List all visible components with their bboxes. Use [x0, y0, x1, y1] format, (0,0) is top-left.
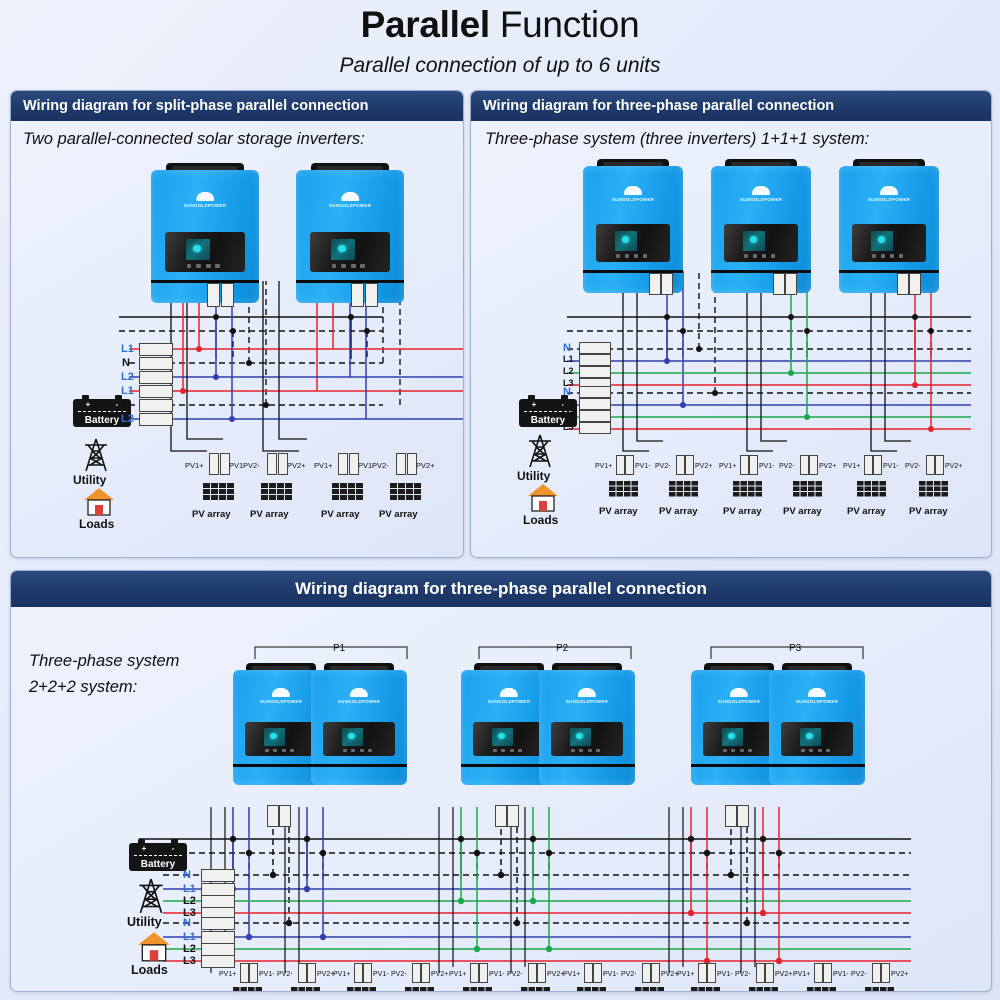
- brand-label: SUNGOLDPOWER: [739, 197, 783, 202]
- lcd-screen: [331, 239, 355, 260]
- battery-terminal-pos: [528, 395, 535, 399]
- breaker-block: [909, 273, 921, 295]
- lcd-screen: [186, 239, 210, 260]
- button-4[interactable]: [899, 254, 903, 258]
- button-3[interactable]: [510, 749, 514, 752]
- house-icon: [137, 931, 171, 963]
- pv-terminal-left: PV1+: [314, 461, 333, 470]
- inverter-display: [473, 722, 544, 756]
- inverter-seam: [539, 764, 635, 767]
- loads-terminal-n: N: [563, 386, 571, 398]
- utility-terminal-n: N: [183, 869, 191, 881]
- panel-three-phase-111-caption: Three-phase system (three inverters) 1+1…: [485, 129, 869, 150]
- pv-terminal-right: PV2+: [819, 463, 836, 470]
- pv-breaker: [338, 453, 348, 475]
- panel-split-phase-body: Two parallel-connected solar storage inv…: [11, 121, 463, 558]
- pv-terminal-right: PV1-: [603, 971, 619, 978]
- pv-breaker: [584, 963, 593, 983]
- pv-breaker: [642, 963, 651, 983]
- inverter-3: SUNGOLDPOWER: [839, 159, 939, 293]
- control-buttons: [265, 749, 295, 752]
- pv-array-label: PV array: [723, 506, 762, 517]
- breaker-block: [507, 805, 519, 827]
- inverter-2: SUNGOLDPOWER: [296, 163, 404, 303]
- terminal-block: [579, 354, 611, 366]
- pv-breaker: [809, 455, 818, 475]
- pv-array-icon: [463, 987, 493, 992]
- button-2[interactable]: [731, 749, 735, 752]
- pv-breaker: [349, 453, 359, 475]
- pv-array-label: PV array: [783, 506, 822, 517]
- pv-breaker: [707, 963, 716, 983]
- inverter-logo: SUNGOLDPOWER: [796, 688, 838, 704]
- button-4[interactable]: [748, 749, 752, 752]
- brand-label: SUNGOLDPOWER: [566, 699, 608, 704]
- breaker-block: [207, 283, 220, 307]
- sun-logo-icon: [341, 192, 359, 201]
- battery-label: Battery: [141, 859, 175, 871]
- pv-array-icon: [733, 481, 763, 503]
- breaker-block: [897, 273, 909, 295]
- button-2[interactable]: [809, 749, 813, 752]
- pv-array-icon: [521, 987, 551, 992]
- pv-breaker: [363, 963, 372, 983]
- breaker-block: [661, 273, 673, 295]
- diagram-page: Parallel Function Parallel connection of…: [0, 0, 1000, 1000]
- button-2[interactable]: [625, 254, 629, 258]
- button-3[interactable]: [360, 749, 364, 752]
- terminal-block: [139, 371, 173, 384]
- utility-tower-icon: [79, 437, 113, 473]
- inverter-display: [310, 232, 390, 272]
- inverter-seam: [769, 764, 865, 767]
- terminal-block: [579, 398, 611, 410]
- pv-terminal-left: PV2-: [655, 463, 671, 470]
- pv-breaker: [814, 963, 823, 983]
- pv-terminal-left: PV1+: [793, 971, 810, 978]
- utility-label: Utility: [73, 473, 106, 487]
- battery-minus: -: [116, 401, 119, 409]
- pv-terminal-right: PV2+: [661, 971, 678, 978]
- battery-terminal-pos: [138, 839, 145, 843]
- button-3[interactable]: [634, 254, 638, 258]
- pv-array-icon: [390, 483, 422, 507]
- inverter-logo: SUNGOLDPOWER: [338, 688, 380, 704]
- panel-split-phase-header: Wiring diagram for split-phase parallel …: [11, 91, 463, 121]
- pv-terminal-left: PV2-: [905, 463, 921, 470]
- pv-terminal-right: PV2+: [891, 971, 908, 978]
- pv-terminal-right: PV1-: [259, 971, 275, 978]
- button-2[interactable]: [341, 264, 346, 268]
- pv-array-icon: [857, 481, 887, 503]
- inverter-body: SUNGOLDPOWER: [296, 170, 404, 303]
- button-3[interactable]: [740, 749, 744, 752]
- button-1[interactable]: [872, 254, 876, 258]
- pv-terminal-left: PV1+: [719, 463, 736, 470]
- pv-array-icon: [261, 483, 293, 507]
- button-1[interactable]: [801, 749, 805, 752]
- breaker-block: [737, 805, 749, 827]
- pv-breaker: [267, 453, 277, 475]
- breaker-block: [365, 283, 378, 307]
- pv-array-icon: [609, 481, 639, 503]
- loads-terminal-l3: L3: [183, 955, 196, 967]
- loads-terminal-l2: L2: [563, 410, 574, 420]
- terminal-block: [579, 386, 611, 398]
- pv-array-label: PV array: [379, 509, 418, 520]
- pv-terminal-right: PV1-: [717, 971, 733, 978]
- panel-three-phase-222-caption-l2: 2+2+2 system:: [29, 677, 137, 698]
- inverter-body: SUNGOLDPOWER: [769, 670, 865, 785]
- terminal-block: [139, 413, 173, 426]
- utility-terminal-l2: L2: [563, 366, 574, 376]
- pv-terminal-right: PV1-: [883, 463, 899, 470]
- inverter-logo: SUNGOLDPOWER: [566, 688, 608, 704]
- inverter-logo: SUNGOLDPOWER: [326, 192, 374, 208]
- sun-logo-icon: [880, 186, 898, 195]
- lcd-screen: [492, 728, 513, 746]
- button-2[interactable]: [351, 749, 355, 752]
- pv-terminal-left: PV1+: [449, 971, 466, 978]
- button-4[interactable]: [643, 254, 647, 258]
- title-bold: Parallel: [361, 4, 490, 45]
- panel-three-phase-222: Wiring diagram for three-phase parallel …: [10, 570, 992, 992]
- breaker-block: [649, 273, 661, 295]
- inverter-logo: SUNGOLDPOWER: [718, 688, 760, 704]
- utility-terminal-l1: L1: [563, 354, 574, 364]
- button-1[interactable]: [187, 264, 192, 268]
- inverter-seam: [151, 280, 259, 283]
- inverter-display: [165, 232, 245, 272]
- utility-terminal-l2: L2: [121, 371, 134, 383]
- brand-label: SUNGOLDPOWER: [488, 699, 530, 704]
- brand-label: SUNGOLDPOWER: [718, 699, 760, 704]
- page-subtitle: Parallel connection of up to 6 units: [0, 54, 1000, 78]
- inverter-display: [781, 722, 852, 756]
- pv-terminal-right: PV1-: [373, 971, 389, 978]
- sun-logo-icon: [808, 688, 826, 697]
- pv-breaker: [307, 963, 316, 983]
- pv-array-icon: [635, 987, 665, 992]
- panel-three-phase-111-header: Wiring diagram for three-phase parallel …: [471, 91, 991, 121]
- pv-array-icon: [233, 987, 263, 992]
- pv-terminal-right: PV1-: [489, 971, 505, 978]
- pv-terminal-right: PV2+: [317, 971, 334, 978]
- pv-breaker: [209, 453, 219, 475]
- pv-terminal-right: PV2+: [287, 461, 306, 470]
- pv-array-label: PV array: [192, 509, 231, 520]
- utility-label: Utility: [127, 915, 162, 929]
- button-3[interactable]: [890, 254, 894, 258]
- pv-terminal-left: PV1+: [333, 971, 350, 978]
- lcd-screen: [570, 728, 591, 746]
- loads-label: Loads: [79, 517, 114, 531]
- loads-terminal-n: N: [122, 399, 130, 411]
- sun-logo-icon: [500, 688, 518, 697]
- pv-terminal-right: PV2+: [775, 971, 792, 978]
- pv-breaker: [278, 453, 288, 475]
- inverter-display: [245, 722, 316, 756]
- button-2[interactable]: [881, 254, 885, 258]
- house-icon: [83, 487, 115, 517]
- control-buttons: [343, 749, 373, 752]
- button-4[interactable]: [596, 749, 600, 752]
- pv-breaker: [749, 455, 758, 475]
- pv-terminal-right: PV2+: [547, 971, 564, 978]
- inverter-body: SUNGOLDPOWER: [151, 170, 259, 303]
- lcd-screen: [871, 231, 893, 251]
- pv-terminal-left: PV1+: [595, 463, 612, 470]
- terminal-block: [139, 343, 173, 356]
- loads-terminal-n: N: [183, 917, 191, 929]
- control-buttons: [723, 749, 753, 752]
- button-2[interactable]: [501, 749, 505, 752]
- control-buttons: [571, 749, 601, 752]
- control-buttons: [187, 264, 221, 268]
- brand-label: SUNGOLDPOWER: [260, 699, 302, 704]
- button-3[interactable]: [206, 264, 211, 268]
- battery-terminal-pos: [82, 395, 89, 399]
- pv-breaker: [676, 455, 685, 475]
- pv-breaker: [926, 455, 935, 475]
- breaker-block: [785, 273, 797, 295]
- button-3[interactable]: [818, 749, 822, 752]
- brand-label: SUNGOLDPOWER: [867, 197, 911, 202]
- button-4[interactable]: [518, 749, 522, 752]
- pv-breaker: [935, 455, 944, 475]
- button-3[interactable]: [762, 254, 766, 258]
- utility-label: Utility: [517, 469, 550, 483]
- pv-breaker: [651, 963, 660, 983]
- button-2[interactable]: [579, 749, 583, 752]
- pv-terminal-right: PV2+: [431, 971, 448, 978]
- pv-array-icon: [749, 987, 779, 992]
- pv-array-label: PV array: [659, 506, 698, 517]
- lcd-screen: [800, 728, 821, 746]
- loads-terminal-l1: L1: [183, 931, 196, 943]
- pv-terminal-left: PV2-: [277, 971, 293, 978]
- title-rest: Function: [490, 4, 640, 45]
- breaker-block: [725, 805, 737, 827]
- sun-logo-icon: [730, 688, 748, 697]
- pv-breaker: [220, 453, 230, 475]
- inverter-logo: SUNGOLDPOWER: [488, 688, 530, 704]
- page-title: Parallel Function: [0, 6, 1000, 45]
- inverter-logo: SUNGOLDPOWER: [867, 186, 911, 202]
- loads-label: Loads: [523, 513, 558, 527]
- pv-breaker: [616, 455, 625, 475]
- sun-logo-icon: [578, 688, 596, 697]
- pv-breaker: [593, 963, 602, 983]
- sun-logo-icon: [350, 688, 368, 697]
- brand-label: SUNGOLDPOWER: [326, 203, 374, 208]
- breaker-block: [279, 805, 291, 827]
- battery-label: Battery: [85, 415, 119, 427]
- utility-terminal-l1: L1: [183, 883, 196, 895]
- panel-three-phase-222-body: Three-phase system 2+2+2 system: P1 P2 P…: [11, 607, 991, 992]
- terminal-block: [201, 869, 235, 882]
- battery-terminal-neg: [171, 839, 178, 843]
- button-1[interactable]: [343, 749, 347, 752]
- panel-three-phase-111-body: Three-phase system (three inverters) 1+1…: [471, 121, 991, 558]
- battery-plus: +: [142, 845, 147, 853]
- panel-three-phase-222-caption-l1: Three-phase system: [29, 651, 179, 672]
- pv-breaker: [528, 963, 537, 983]
- terminal-block: [139, 357, 173, 370]
- inverter-6: SUNGOLDPOWER: [769, 663, 865, 785]
- loads-terminal-l2: L2: [183, 943, 196, 955]
- pv-breaker: [765, 963, 774, 983]
- pv-terminal-left: PV2-: [391, 971, 407, 978]
- button-3[interactable]: [282, 749, 286, 752]
- terminal-block: [579, 410, 611, 422]
- button-1[interactable]: [744, 254, 748, 258]
- inverter-body: SUNGOLDPOWER: [839, 166, 939, 293]
- pv-breaker: [800, 455, 809, 475]
- group-label-p2: P2: [556, 643, 568, 654]
- button-1[interactable]: [265, 749, 269, 752]
- pv-array-icon: [405, 987, 435, 992]
- pv-array-icon: [577, 987, 607, 992]
- loads-terminal-l1: L1: [121, 385, 134, 397]
- button-3[interactable]: [351, 264, 356, 268]
- button-1[interactable]: [493, 749, 497, 752]
- pv-breaker: [823, 963, 832, 983]
- battery-divider: [134, 855, 183, 856]
- inverter-display: [323, 722, 394, 756]
- button-3[interactable]: [588, 749, 592, 752]
- pv-terminal-left: PV1+: [677, 971, 694, 978]
- button-1[interactable]: [332, 264, 337, 268]
- pv-terminal-left: PV1+: [185, 461, 204, 470]
- control-buttons: [872, 254, 903, 258]
- loads-terminal-l2: L2: [121, 413, 134, 425]
- pv-terminal-left: PV2-: [507, 971, 523, 978]
- inverter-logo: SUNGOLDPOWER: [181, 192, 229, 208]
- panel-split-phase: Wiring diagram for split-phase parallel …: [10, 90, 464, 558]
- pv-breaker: [864, 455, 873, 475]
- lcd-screen: [615, 231, 637, 251]
- pv-array-icon: [203, 483, 235, 507]
- terminal-block: [139, 399, 173, 412]
- terminal-block: [201, 917, 235, 930]
- pv-array-icon: [669, 481, 699, 503]
- inverter-body: SUNGOLDPOWER: [311, 670, 407, 785]
- pv-breaker: [240, 963, 249, 983]
- inverter-body: SUNGOLDPOWER: [539, 670, 635, 785]
- button-1[interactable]: [571, 749, 575, 752]
- pv-breaker: [625, 455, 634, 475]
- utility-terminal-n: N: [563, 342, 571, 354]
- inverter-seam: [839, 270, 939, 273]
- button-2[interactable]: [196, 264, 201, 268]
- breaker-block: [773, 273, 785, 295]
- pv-terminal-left: PV1+: [563, 971, 580, 978]
- pv-terminal-left: PV1+: [219, 971, 236, 978]
- group-label-p1: P1: [333, 643, 345, 654]
- pv-breaker: [756, 963, 765, 983]
- button-4[interactable]: [290, 749, 294, 752]
- loads-label: Loads: [131, 963, 168, 977]
- pv-array-icon: [807, 987, 837, 992]
- button-4[interactable]: [368, 749, 372, 752]
- pv-terminal-right: PV2+: [695, 463, 712, 470]
- control-buttons: [801, 749, 831, 752]
- lcd-screen: [342, 728, 363, 746]
- loads-terminal-l3: L3: [563, 422, 574, 432]
- button-2[interactable]: [753, 254, 757, 258]
- pv-breaker: [249, 963, 258, 983]
- pv-array-label: PV array: [321, 509, 360, 520]
- terminal-block: [579, 422, 611, 434]
- inverter-display: [724, 224, 798, 262]
- inverter-display: [551, 722, 622, 756]
- button-4[interactable]: [215, 264, 220, 268]
- loads-terminal-l1: L1: [563, 398, 574, 408]
- button-1[interactable]: [616, 254, 620, 258]
- button-1[interactable]: [723, 749, 727, 752]
- pv-terminal-left: PV2-: [372, 461, 389, 470]
- control-buttons: [744, 254, 775, 258]
- pv-array-icon: [291, 987, 321, 992]
- pv-terminal-right: PV2+: [416, 461, 435, 470]
- utility-terminal-l2: L2: [183, 895, 196, 907]
- pv-breaker: [740, 455, 749, 475]
- terminal-block: [201, 955, 235, 968]
- pv-breaker: [412, 963, 421, 983]
- pv-breaker: [685, 455, 694, 475]
- control-buttons: [616, 254, 647, 258]
- pv-array-icon: [919, 481, 949, 503]
- pv-breaker: [873, 455, 882, 475]
- pv-array-icon: [865, 987, 895, 992]
- button-4[interactable]: [360, 264, 365, 268]
- pv-array-icon: [691, 987, 721, 992]
- battery-polarity: + -: [129, 845, 187, 853]
- utility-terminal-n: N: [122, 357, 130, 369]
- brand-label: SUNGOLDPOWER: [611, 197, 655, 202]
- pv-terminal-right: PV1-: [759, 463, 775, 470]
- house-icon: [527, 483, 559, 513]
- breaker-block: [267, 805, 279, 827]
- button-2[interactable]: [273, 749, 277, 752]
- battery-plus: +: [86, 401, 91, 409]
- pv-terminal-left: PV2-: [243, 461, 260, 470]
- sun-logo-icon: [624, 186, 642, 195]
- pv-array-label: PV array: [250, 509, 289, 520]
- pv-array-icon: [347, 987, 377, 992]
- pv-terminal-right: PV1-: [833, 971, 849, 978]
- button-4[interactable]: [826, 749, 830, 752]
- battery-divider: [78, 411, 127, 412]
- pv-breaker: [537, 963, 546, 983]
- sun-logo-icon: [196, 192, 214, 201]
- lcd-screen: [264, 728, 285, 746]
- inverter-4: SUNGOLDPOWER: [539, 663, 635, 785]
- inverter-logo: SUNGOLDPOWER: [611, 186, 655, 202]
- inverter-display: [703, 722, 774, 756]
- control-buttons: [332, 264, 366, 268]
- terminal-block: [579, 366, 611, 378]
- inverter-display: [596, 224, 670, 262]
- inverter-logo: SUNGOLDPOWER: [739, 186, 783, 202]
- pv-breaker: [470, 963, 479, 983]
- pv-breaker: [698, 963, 707, 983]
- button-4[interactable]: [771, 254, 775, 258]
- terminal-block: [139, 385, 173, 398]
- utility-tower-icon: [523, 433, 557, 469]
- pv-terminal-right: PV2+: [945, 463, 962, 470]
